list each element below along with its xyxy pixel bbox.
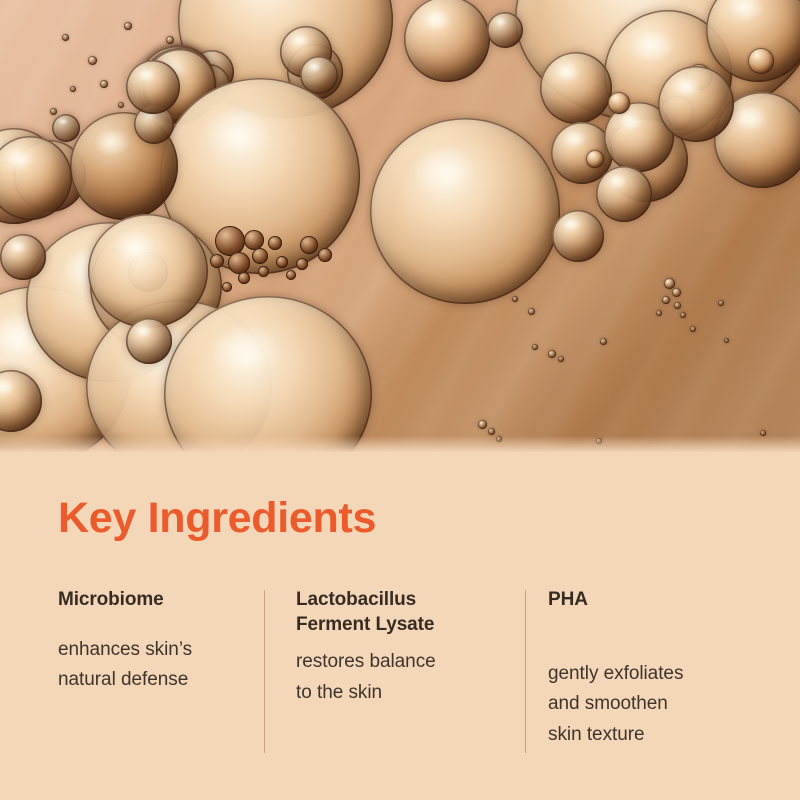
bubble [724, 338, 729, 343]
bubble [70, 86, 76, 92]
foam-bubble [268, 236, 282, 250]
bubble [404, 0, 490, 82]
ingredient-column-lactobacillus-ferment-lysate: Lactobacillus Ferment Lysate restores ba… [296, 588, 511, 709]
bubble [540, 52, 612, 124]
bubble [488, 428, 495, 435]
bubble [690, 326, 696, 332]
bubble [552, 210, 604, 262]
photo-bottom-fade [0, 436, 800, 452]
ingredient-description: restores balance to the skin [296, 647, 511, 709]
bubble [600, 338, 607, 345]
bubble [370, 118, 560, 304]
bubble [718, 300, 724, 306]
bubble [0, 234, 46, 280]
page-title: Key Ingredients [58, 497, 376, 540]
ingredient-description: enhances skin’s natural defense [58, 635, 258, 697]
foam-bubble [258, 266, 269, 277]
bubble [126, 60, 180, 114]
bubble [532, 344, 538, 350]
ingredients-card: Key Ingredients Microbiome enhances skin… [0, 0, 800, 800]
bubble [52, 114, 80, 142]
bubble [596, 166, 652, 222]
oil-bubbles-macro-photo [0, 0, 800, 452]
bubble [50, 108, 57, 115]
foam-bubble [228, 252, 250, 274]
bubble [558, 356, 564, 362]
foam-bubble [238, 272, 250, 284]
bubble [586, 150, 604, 168]
bubble [608, 92, 630, 114]
bubble [62, 34, 69, 41]
foam-bubble [300, 236, 318, 254]
bubble [166, 36, 174, 44]
bubble [672, 288, 681, 297]
bubble [548, 350, 556, 358]
ingredient-title: Lactobacillus Ferment Lysate [296, 588, 511, 637]
bubble [658, 66, 734, 142]
bubble [487, 12, 523, 48]
ingredient-columns: Microbiome enhances skin’s natural defen… [58, 588, 758, 768]
ingredient-title: PHA [548, 588, 758, 613]
bubble [124, 22, 132, 30]
foam-bubble [296, 258, 308, 270]
bubble [748, 48, 774, 74]
ingredient-title: Microbiome [58, 588, 258, 613]
foam-bubble [276, 256, 288, 268]
bubble [528, 308, 535, 315]
bubble [126, 318, 172, 364]
bubble [88, 56, 97, 65]
foam-bubble [252, 248, 268, 264]
ingredient-column-pha: PHA gently exfoliates and smoothen skin … [548, 588, 758, 751]
bubble [512, 296, 518, 302]
ingredient-description: gently exfoliates and smoothen skin text… [548, 659, 758, 751]
bubble [674, 302, 681, 309]
bubble [656, 310, 662, 316]
bubble [88, 214, 208, 328]
foam-bubble [244, 230, 264, 250]
bubble [100, 80, 108, 88]
bubble [664, 278, 675, 289]
foam-bubble [210, 254, 224, 268]
foam-bubble [222, 282, 232, 292]
bubble [118, 102, 124, 108]
foam-bubble [286, 270, 296, 280]
bubble [662, 296, 670, 304]
ingredient-column-microbiome: Microbiome enhances skin’s natural defen… [58, 588, 258, 696]
bubble [680, 312, 686, 318]
foam-bubble [318, 248, 332, 262]
bubble [478, 420, 487, 429]
